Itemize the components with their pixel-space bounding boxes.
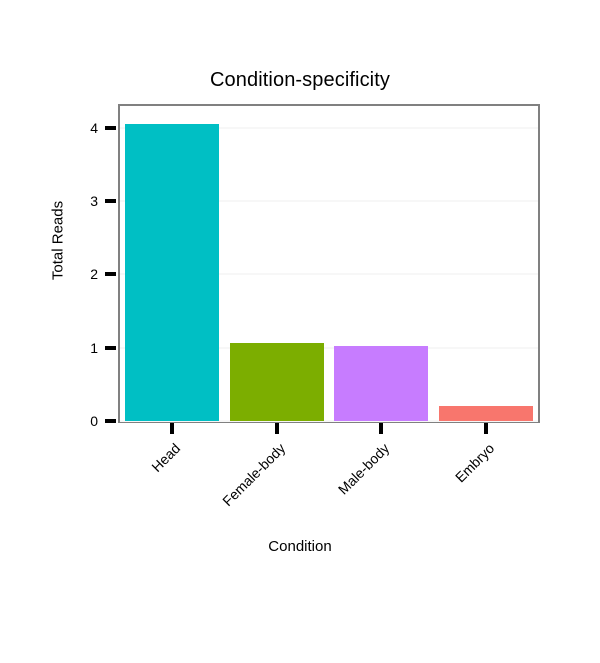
bar-chart: Condition-specificity Total Reads Condit…: [0, 0, 600, 600]
bar-head: [125, 124, 219, 421]
bar-female-body: [230, 343, 324, 421]
y-tick-label: 3: [0, 192, 98, 210]
y-tick-mark: [105, 272, 116, 276]
y-tick-mark: [105, 346, 116, 350]
chart-title: Condition-specificity: [0, 68, 600, 92]
plot-panel: [118, 104, 540, 423]
x-tick-mark: [484, 423, 488, 434]
y-tick-mark: [105, 419, 116, 423]
y-tick-label: 0: [0, 412, 98, 430]
plot-area: [120, 106, 538, 421]
y-tick-label: 2: [0, 265, 98, 283]
y-tick-label: 4: [0, 119, 98, 137]
bar-male-body: [334, 346, 428, 421]
x-tick-mark: [379, 423, 383, 434]
bar-embryo: [439, 406, 533, 421]
x-tick-mark: [170, 423, 174, 434]
y-tick-mark: [105, 126, 116, 130]
x-tick-mark: [275, 423, 279, 434]
y-tick-mark: [105, 199, 116, 203]
y-tick-label: 1: [0, 339, 98, 357]
